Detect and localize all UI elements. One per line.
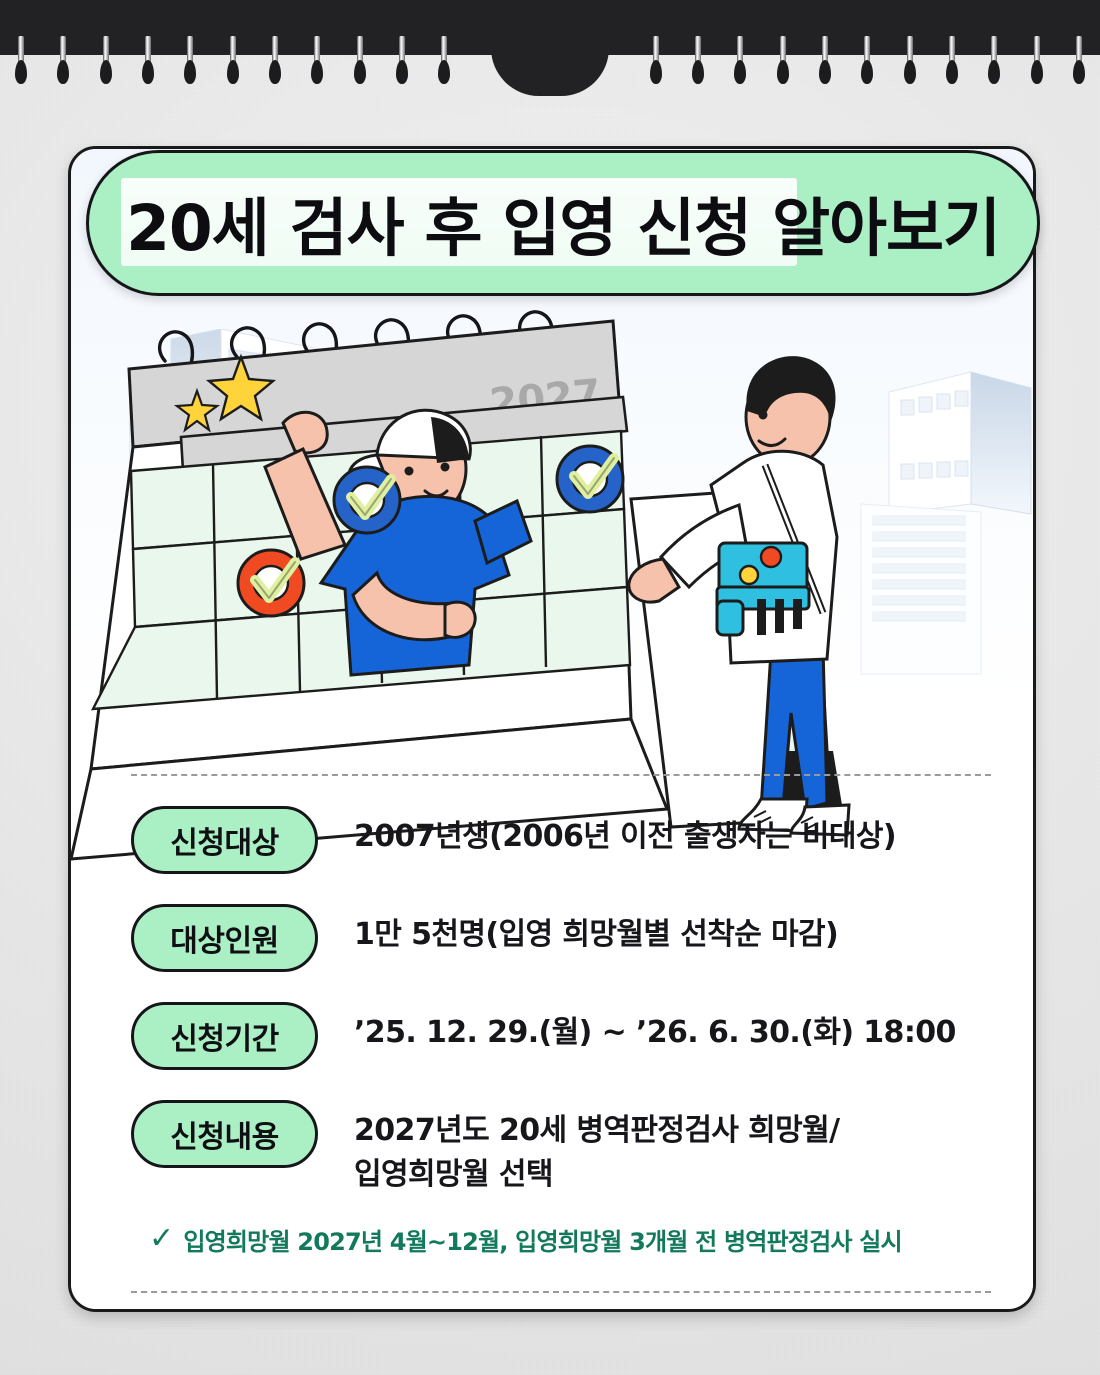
spiral-head xyxy=(184,60,196,84)
spiral-ring xyxy=(777,36,789,86)
pill-label-applicant-target: 신청대상 xyxy=(131,806,318,874)
pill-label-application-period: 신청기간 xyxy=(131,1002,318,1070)
spiral-head xyxy=(100,60,112,84)
spiral-ring xyxy=(142,36,154,86)
header-black-bar xyxy=(0,0,1100,55)
spiral-ring xyxy=(100,36,112,86)
note-text: 입영희망월 2027년 4월~12월, 입영희망월 3개월 전 병역판정검사 실… xyxy=(183,1222,901,1257)
row-quota: 대상인원 1만 5천명(입영 희망월별 선착순 마감) xyxy=(131,904,1031,972)
row-application-period: 신청기간 ’25. 12. 29.(월) ~ ’26. 6. 30.(화) 18… xyxy=(131,1002,1031,1070)
spiral-head xyxy=(692,60,704,84)
divider-top xyxy=(131,774,991,776)
spiral-ring xyxy=(184,36,196,86)
spiral-head xyxy=(904,60,916,84)
spiral-ring xyxy=(861,36,873,86)
spiral-ring xyxy=(650,36,662,86)
spiral-head xyxy=(734,60,746,84)
check-circle-blue-2 xyxy=(557,446,623,512)
spiral-head xyxy=(354,60,366,84)
row-value-application-content: 2027년도 20세 병역판정검사 희망월/ 입영희망월 선택 xyxy=(354,1100,840,1198)
pill-label-application-content: 신청내용 xyxy=(131,1100,318,1168)
spiral-ring xyxy=(269,36,281,86)
spiral-ring xyxy=(692,36,704,86)
spiral-head xyxy=(1031,60,1043,84)
spiral-ring xyxy=(904,36,916,86)
spiral-ring xyxy=(396,36,408,86)
title-pill: 20세 검사 후 입영 신청 알아보기 xyxy=(86,150,1040,296)
check-circle-blue-1 xyxy=(334,467,400,533)
spiral-ring xyxy=(946,36,958,86)
spiral-ring xyxy=(227,36,239,86)
spiral-ring xyxy=(438,36,450,86)
row-applicant-target: 신청대상 2007년생(2006년 이전 출생자는 비대상) xyxy=(131,806,1031,874)
spiral-head xyxy=(396,60,408,84)
spiral-head xyxy=(819,60,831,84)
spiral-head xyxy=(57,60,69,84)
spiral-head xyxy=(988,60,1000,84)
spiral-head xyxy=(15,60,27,84)
spiral-head xyxy=(142,60,154,84)
row-value-line-2: 입영희망월 선택 xyxy=(354,1153,840,1197)
content-card: 2027 xyxy=(68,146,1036,1312)
row-value-applicant-target: 2007년생(2006년 이전 출생자는 비대상) xyxy=(354,806,896,859)
row-value-application-period: ’25. 12. 29.(월) ~ ’26. 6. 30.(화) 18:00 xyxy=(354,1002,956,1055)
spiral-ring xyxy=(354,36,366,86)
spiral-head xyxy=(946,60,958,84)
calendar-header-bar xyxy=(0,0,1100,60)
row-application-content: 신청내용 2027년도 20세 병역판정검사 희망월/ 입영희망월 선택 xyxy=(131,1100,1031,1198)
spiral-head xyxy=(777,60,789,84)
spiral-ring xyxy=(57,36,69,86)
note-line: ✓ 입영희망월 2027년 4월~12월, 입영희망월 3개월 전 병역판정검사… xyxy=(149,1222,1031,1257)
spiral-ring xyxy=(819,36,831,86)
spiral-ring xyxy=(1073,36,1085,86)
spiral-head xyxy=(438,60,450,84)
spiral-head xyxy=(650,60,662,84)
pill-label-quota: 대상인원 xyxy=(131,904,318,972)
spiral-head xyxy=(227,60,239,84)
spiral-head xyxy=(861,60,873,84)
spiral-head xyxy=(1073,60,1085,84)
page-title: 20세 검사 후 입영 신청 알아보기 xyxy=(126,178,1000,269)
spiral-ring xyxy=(1031,36,1043,86)
row-value-line-1: 2027년도 20세 병역판정검사 희망월/ xyxy=(354,1109,840,1153)
info-rows: 신청대상 2007년생(2006년 이전 출생자는 비대상) 대상인원 1만 5… xyxy=(131,774,1031,1293)
check-icon: ✓ xyxy=(149,1224,173,1254)
spiral-head xyxy=(269,60,281,84)
divider-bottom xyxy=(131,1291,991,1293)
spiral-ring xyxy=(311,36,323,86)
check-circle-orange xyxy=(238,550,304,616)
spiral-ring xyxy=(734,36,746,86)
spiral-ring xyxy=(15,36,27,86)
spiral-head xyxy=(311,60,323,84)
row-value-quota: 1만 5천명(입영 희망월별 선착순 마감) xyxy=(354,904,838,957)
spiral-ring xyxy=(988,36,1000,86)
